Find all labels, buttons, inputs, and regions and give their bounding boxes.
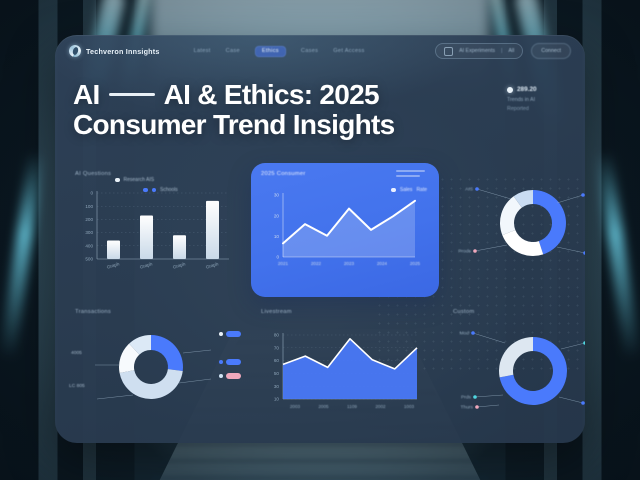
title-rule xyxy=(109,93,155,96)
filter-icon xyxy=(444,47,453,56)
card-title-livestream: Livestream xyxy=(261,309,429,315)
donut-chart-bottom-right: ArcsConverterModPrdsThurs xyxy=(453,317,585,417)
legend-hero: Sales Rate xyxy=(391,187,427,193)
navbar: Techveron Innsights Latest Case Ethics C… xyxy=(55,35,585,67)
brand[interactable]: Techveron Innsights xyxy=(69,45,160,57)
card-donut-bottom-right[interactable]: Custom ArcsConverterModPrdsThurs xyxy=(443,301,585,435)
svg-text:0: 0 xyxy=(90,191,93,196)
svg-text:2025: 2025 xyxy=(410,261,421,266)
legend-label: Research AIS xyxy=(124,177,155,183)
svg-text:400: 400 xyxy=(85,243,93,248)
mini-legend-row xyxy=(396,170,425,172)
donut-side-label-1: 4005 xyxy=(71,351,82,356)
legend-item-schools: Schools xyxy=(143,187,178,193)
page-title-line2: Consumer Trend Insights xyxy=(73,109,395,140)
svg-text:Graph: Graph xyxy=(106,261,120,269)
hero-stat-caption-1: Trends in AI xyxy=(507,97,567,103)
svg-text:2002: 2002 xyxy=(375,404,386,409)
svg-text:2003: 2003 xyxy=(290,404,301,409)
legend-dot-icon xyxy=(219,374,224,379)
svg-text:2023: 2023 xyxy=(344,261,355,266)
legend-dot-icon xyxy=(219,332,224,337)
svg-text:2021: 2021 xyxy=(278,261,289,266)
nav-links: Latest Case Ethics Cases Get Access xyxy=(194,46,365,57)
card-title-transactions: Transactions xyxy=(75,309,237,315)
svg-text:20: 20 xyxy=(274,213,280,218)
svg-text:1109: 1109 xyxy=(347,404,357,409)
card-bar-chart[interactable]: AI Questions Research AIS Schools 500400… xyxy=(65,163,247,297)
chart-grid: AI Questions Research AIS Schools 500400… xyxy=(65,163,575,435)
hero-stat: 289.20 Trends in AI Reported xyxy=(507,86,567,112)
legend-label: Schools xyxy=(160,187,178,193)
nav-link-ethics[interactable]: Ethics xyxy=(255,46,286,57)
mini-legend-row xyxy=(396,175,420,177)
card-donut-bottom-left[interactable]: Transactions 4005 LC 805 xyxy=(65,301,247,435)
page-title-line1: AI & Ethics: 2025 xyxy=(164,79,379,110)
legend-chip-1[interactable] xyxy=(219,331,242,337)
svg-text:200: 200 xyxy=(85,217,93,222)
svg-text:50: 50 xyxy=(274,371,280,376)
legend-pill xyxy=(226,359,241,365)
nav-link-case[interactable]: Case xyxy=(226,48,240,54)
svg-text:300: 300 xyxy=(85,230,93,235)
hero-header: AIAI & Ethics: 2025 Consumer Trend Insig… xyxy=(73,80,567,140)
donut-chart-bottom-left xyxy=(75,317,237,413)
pill-separator: | xyxy=(501,48,502,54)
donut-chart-top-right: OnlineCustomProdsAIS xyxy=(453,171,585,277)
hero-line-chart: 302010020212022202320242025 xyxy=(261,179,429,275)
svg-text:2024: 2024 xyxy=(377,261,388,266)
svg-text:Thurs: Thurs xyxy=(460,405,473,411)
legend-dot-icon xyxy=(143,188,148,193)
svg-text:Graph: Graph xyxy=(139,261,153,269)
svg-text:2005: 2005 xyxy=(318,404,329,409)
card-area-chart[interactable]: Livestream 80706050301020032005110920021… xyxy=(251,301,439,435)
legend-dot-icon xyxy=(219,360,224,365)
card-hero-chart[interactable]: 2025 Consumer Sales Rate 302010020212022… xyxy=(251,163,439,297)
area-chart: 80706050301020032005110920021003 xyxy=(261,317,429,417)
filter-value[interactable]: All xyxy=(508,48,514,54)
page-title-eyebrow: AI xyxy=(73,79,100,110)
svg-text:60: 60 xyxy=(274,358,280,363)
svg-text:80: 80 xyxy=(274,333,280,338)
svg-text:Prods: Prods xyxy=(458,249,471,255)
legend-label: Sales xyxy=(400,187,413,193)
svg-text:100: 100 xyxy=(85,204,93,209)
search-input[interactable]: AI Experiments xyxy=(459,48,495,54)
svg-text:AIS: AIS xyxy=(465,187,474,193)
legend-dot-icon xyxy=(391,188,396,193)
legend-chip-3[interactable] xyxy=(219,373,242,379)
navbar-right: AI Experiments | All Connect xyxy=(435,43,571,59)
svg-text:500: 500 xyxy=(85,257,93,262)
svg-text:Graph: Graph xyxy=(172,261,186,269)
svg-text:Graph: Graph xyxy=(205,261,219,269)
svg-text:Prds: Prds xyxy=(461,395,472,401)
hero-stat-value: 289.20 xyxy=(517,86,537,93)
hero-card-mini-legend xyxy=(396,170,430,180)
dashboard-panel: Techveron Innsights Latest Case Ethics C… xyxy=(55,35,585,443)
logo-icon xyxy=(69,45,81,57)
bar-chart: 5004003002001000GraphGraphGraphGraph xyxy=(75,179,237,275)
legend-dot-icon xyxy=(115,178,120,183)
card-donut-top-right[interactable]: OnlineCustomProdsAIS xyxy=(443,163,585,297)
hero-stat-caption-2: Reported xyxy=(507,106,567,112)
card-title-custom: Custom xyxy=(453,309,585,315)
svg-text:30: 30 xyxy=(274,384,280,389)
svg-text:Mod: Mod xyxy=(459,331,469,337)
nav-link-get-access[interactable]: Get Access xyxy=(333,48,364,54)
legend-pill xyxy=(226,373,241,379)
status-dot-icon xyxy=(507,87,513,93)
svg-text:10: 10 xyxy=(274,397,280,402)
brand-name: Techveron Innsights xyxy=(86,47,160,56)
search-filter-pill[interactable]: AI Experiments | All xyxy=(435,43,523,59)
svg-text:30: 30 xyxy=(274,193,280,198)
svg-text:10: 10 xyxy=(274,234,280,239)
legend-label: Rate xyxy=(416,187,427,193)
svg-text:70: 70 xyxy=(274,345,280,350)
legend-chip-2[interactable] xyxy=(219,359,242,365)
svg-text:2022: 2022 xyxy=(311,261,322,266)
hero-stat-row: 289.20 xyxy=(507,86,567,93)
nav-link-cases[interactable]: Cases xyxy=(301,48,318,54)
nav-link-latest[interactable]: Latest xyxy=(194,48,211,54)
donut-side-label-2: LC 805 xyxy=(69,384,85,389)
connect-button[interactable]: Connect xyxy=(531,43,571,59)
legend-pill xyxy=(226,331,241,337)
svg-text:1003: 1003 xyxy=(404,404,415,409)
card-title-bar: AI Questions xyxy=(75,171,237,177)
legend-item-research: Research AIS xyxy=(115,177,154,183)
legend-dot-icon xyxy=(152,188,157,193)
svg-text:0: 0 xyxy=(276,255,279,260)
page-title: AIAI & Ethics: 2025 Consumer Trend Insig… xyxy=(73,80,493,140)
